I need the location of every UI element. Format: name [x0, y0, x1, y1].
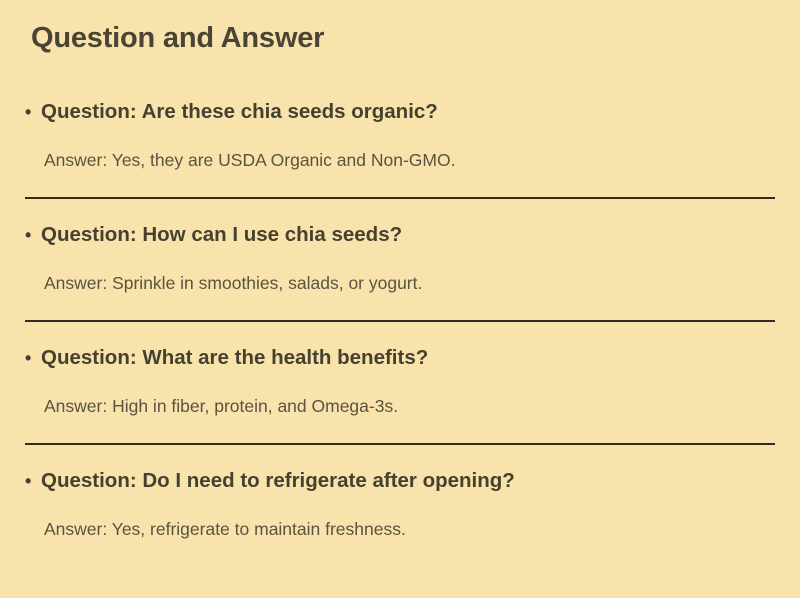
- qa-question: •Question: How can I use chia seeds?: [25, 221, 402, 249]
- qa-question: •Question: Are these chia seeds organic?: [25, 98, 438, 126]
- bullet-icon: •: [25, 467, 41, 495]
- qa-block: •Question: How can I use chia seeds? Ans…: [0, 211, 800, 334]
- bullet-icon: •: [25, 98, 41, 126]
- qa-answer-text: Answer: High in fiber, protein, and Omeg…: [44, 394, 398, 418]
- qa-divider: [25, 443, 775, 445]
- qa-answer-text: Answer: Yes, refrigerate to maintain fre…: [44, 517, 406, 541]
- qa-block: •Question: What are the health benefits?…: [0, 334, 800, 457]
- qa-question: •Question: Do I need to refrigerate afte…: [25, 467, 515, 495]
- qa-question-text: Question: Are these chia seeds organic?: [41, 98, 438, 126]
- qa-divider: [25, 197, 775, 199]
- qa-list: •Question: Are these chia seeds organic?…: [0, 88, 800, 580]
- qa-question-text: Question: How can I use chia seeds?: [41, 221, 402, 249]
- qa-question: •Question: What are the health benefits?: [25, 344, 428, 372]
- qa-answer-text: Answer: Yes, they are USDA Organic and N…: [44, 148, 455, 172]
- qa-block: •Question: Are these chia seeds organic?…: [0, 88, 800, 211]
- qa-question-text: Question: Do I need to refrigerate after…: [41, 467, 515, 495]
- qa-block: •Question: Do I need to refrigerate afte…: [0, 457, 800, 580]
- qa-answer-text: Answer: Sprinkle in smoothies, salads, o…: [44, 271, 422, 295]
- qa-divider: [25, 320, 775, 322]
- bullet-icon: •: [25, 221, 41, 249]
- page-title: Question and Answer: [31, 20, 324, 56]
- qa-page: Question and Answer •Question: Are these…: [0, 0, 800, 598]
- bullet-icon: •: [25, 344, 41, 372]
- qa-question-text: Question: What are the health benefits?: [41, 344, 428, 372]
